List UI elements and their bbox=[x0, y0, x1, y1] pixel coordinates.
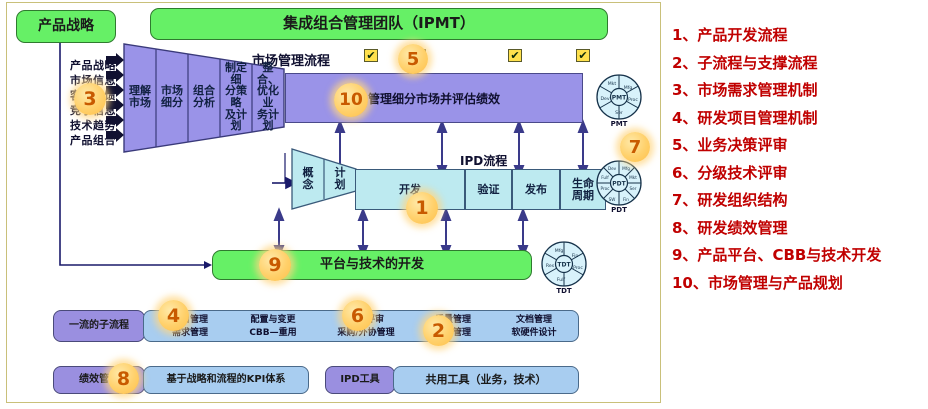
svg-text:Fin: Fin bbox=[572, 253, 579, 259]
sub-col-4-line1: 文档管理 bbox=[492, 314, 576, 327]
svg-text:Mfg: Mfg bbox=[555, 248, 564, 254]
badge-8[interactable]: 8 bbox=[108, 363, 139, 394]
pdt-wheel-shape: PDT Dev Mfg Mkt Ser Fin SW Proc Fulf bbox=[596, 160, 642, 206]
svg-text:PMT: PMT bbox=[612, 95, 627, 102]
pdt-wheel[interactable]: PDT Dev Mfg Mkt Ser Fin SW Proc Fulf PDT bbox=[596, 160, 642, 214]
legend-item-4[interactable]: 4、研发项目管理机制 bbox=[672, 111, 922, 126]
sub-col-0-line2: 需求管理 bbox=[150, 327, 230, 340]
market-management-funnel: 理解 市场 市场 细分 组合 分析 制定细 分策略 及计划 整合、 优化业 务计… bbox=[123, 43, 285, 153]
sub-process-title[interactable]: 一流的子流程 bbox=[53, 310, 145, 342]
performance-body[interactable]: 基于战略和流程的KPI体系 bbox=[143, 366, 309, 394]
badge-4[interactable]: 4 bbox=[158, 300, 189, 331]
badge-10[interactable]: 10 bbox=[334, 83, 368, 117]
checkmark-0[interactable]: ✔ bbox=[364, 49, 378, 62]
legend-item-5[interactable]: 5、业务决策评审 bbox=[672, 138, 922, 153]
badge-3[interactable]: 3 bbox=[74, 83, 106, 115]
tdt-wheel-caption: TDT bbox=[541, 287, 587, 295]
badge-2[interactable]: 2 bbox=[423, 315, 454, 346]
ipmt-box[interactable]: 集成组合管理团队（IPMT） bbox=[150, 8, 608, 40]
badge-6[interactable]: 6 bbox=[342, 300, 373, 331]
svg-text:Proc: Proc bbox=[601, 186, 611, 191]
svg-text:Fulf: Fulf bbox=[601, 175, 609, 180]
market-stage-2[interactable]: 组合 分析 bbox=[188, 79, 220, 115]
market-stage-1[interactable]: 市场 细分 bbox=[156, 79, 188, 115]
sub-col-4-line2: 软硬件设计 bbox=[492, 327, 576, 340]
ipd-funnel: 概 念 计 划 bbox=[291, 148, 351, 210]
legend-item-1[interactable]: 1、产品开发流程 bbox=[672, 28, 922, 43]
pmt-wheel-shape: PMT Mkt Mfg Proc Ser Dev bbox=[596, 74, 642, 120]
manage-segments-bar[interactable]: 管理细分市场并评估绩效 bbox=[285, 73, 583, 123]
badge-5[interactable]: 5 bbox=[398, 44, 428, 74]
ipd-stage-concept[interactable]: 概 念 bbox=[292, 164, 324, 194]
svg-text:Proc: Proc bbox=[573, 265, 583, 271]
tdt-wheel-shape: TDT Mfg Fin Proc Fulf Res bbox=[541, 241, 587, 287]
badge-1[interactable]: 1 bbox=[406, 192, 438, 224]
legend-list: 1、产品开发流程 2、子流程与支撑流程 3、市场需求管理机制 4、研发项目管理机… bbox=[672, 28, 922, 303]
svg-text:Proc: Proc bbox=[628, 97, 638, 103]
diagram-root: 产品战略 集成组合管理团队（IPMT） 产品战略 市场信息 客户反馈 竞争信息 … bbox=[0, 0, 928, 409]
pmt-wheel-caption: PMT bbox=[596, 120, 642, 128]
sub-col-1-line1: 配置与变更 bbox=[228, 314, 318, 327]
svg-text:Dev: Dev bbox=[608, 166, 617, 171]
sub-process-col-4[interactable]: 文档管理 软硬件设计 bbox=[492, 314, 576, 340]
legend-item-8[interactable]: 8、研发绩效管理 bbox=[672, 221, 922, 236]
legend-item-2[interactable]: 2、子流程与支撑流程 bbox=[672, 56, 922, 71]
sub-col-2-line2: 采购/外协管理 bbox=[318, 327, 414, 340]
legend-item-6[interactable]: 6、分级技术评审 bbox=[672, 166, 922, 181]
tdt-wheel[interactable]: TDT Mfg Fin Proc Fulf Res TDT bbox=[541, 241, 587, 295]
svg-text:SW: SW bbox=[609, 197, 616, 202]
ipd-tools-body[interactable]: 共用工具（业务，技术） bbox=[393, 366, 579, 394]
badge-7[interactable]: 7 bbox=[620, 132, 650, 162]
ipd-phase-verify[interactable]: 验证 bbox=[465, 169, 512, 210]
svg-text:Mfg: Mfg bbox=[624, 85, 633, 91]
svg-text:Mkt: Mkt bbox=[629, 175, 637, 180]
market-stage-4[interactable]: 整合、 优化业 务计划 bbox=[252, 72, 284, 122]
svg-text:Dev: Dev bbox=[600, 96, 609, 102]
svg-text:Ser: Ser bbox=[615, 110, 623, 116]
ipd-tools-title[interactable]: IPD工具 bbox=[325, 366, 395, 394]
legend-item-10[interactable]: 10、市场管理与产品规划 bbox=[672, 276, 922, 291]
svg-text:Res: Res bbox=[546, 263, 555, 269]
ipd-phase-release[interactable]: 发布 bbox=[512, 169, 560, 210]
pdt-wheel-caption: PDT bbox=[596, 206, 642, 214]
sub-col-1-line2: CBB—重用 bbox=[228, 327, 318, 340]
legend-item-7[interactable]: 7、研发组织结构 bbox=[672, 193, 922, 208]
pmt-wheel[interactable]: PMT Mkt Mfg Proc Ser Dev PMT bbox=[596, 74, 642, 128]
svg-text:TDT: TDT bbox=[557, 262, 571, 269]
badge-9[interactable]: 9 bbox=[259, 249, 291, 281]
checkmark-3[interactable]: ✔ bbox=[576, 49, 590, 62]
svg-text:Fulf: Fulf bbox=[557, 277, 566, 283]
ipd-stage-plan[interactable]: 计 划 bbox=[324, 164, 356, 194]
svg-text:Mkt: Mkt bbox=[608, 81, 617, 87]
legend-item-3[interactable]: 3、市场需求管理机制 bbox=[672, 83, 922, 98]
legend-item-9[interactable]: 9、产品平台、CBB与技术开发 bbox=[672, 248, 922, 263]
product-strategy-box[interactable]: 产品战略 bbox=[16, 10, 116, 43]
svg-text:Fin: Fin bbox=[623, 197, 629, 202]
svg-text:Mfg: Mfg bbox=[622, 166, 630, 171]
svg-text:Ser: Ser bbox=[630, 186, 637, 191]
svg-text:PDT: PDT bbox=[612, 181, 626, 188]
sub-process-col-1[interactable]: 配置与变更 CBB—重用 bbox=[228, 314, 318, 340]
market-stage-0[interactable]: 理解 市场 bbox=[124, 79, 156, 115]
ipd-process-label: IPD流程 bbox=[460, 152, 507, 169]
market-stage-3[interactable]: 制定细 分策略 及计划 bbox=[220, 72, 252, 122]
checkmark-2[interactable]: ✔ bbox=[508, 49, 522, 62]
